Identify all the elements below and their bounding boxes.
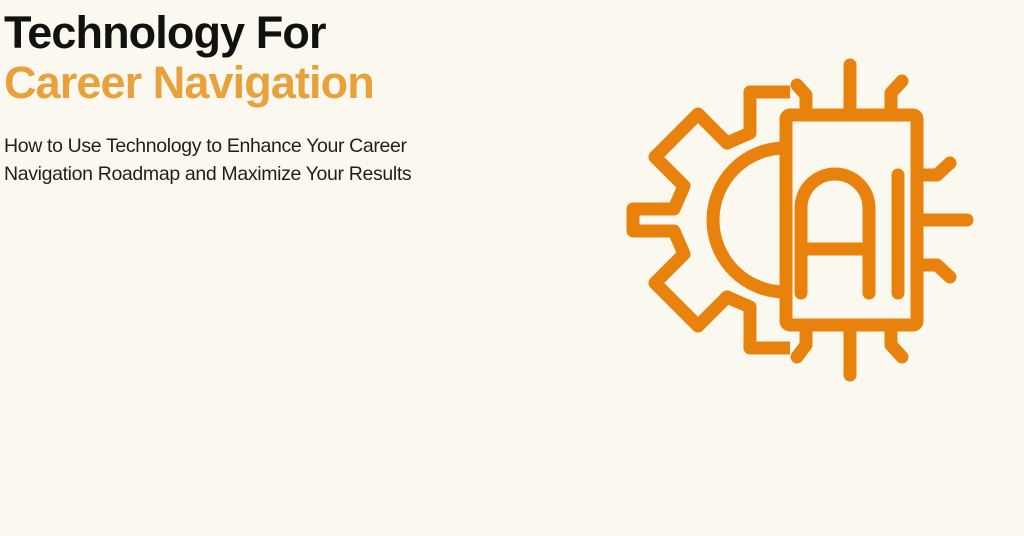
text-block: Technology For Career Navigation How to … (4, 8, 524, 188)
illustration-svg (595, 45, 995, 395)
page-title-line-1: Technology For (4, 8, 524, 58)
hero-banner: Technology For Career Navigation How to … (0, 0, 1024, 536)
page-title-line-2: Career Navigation (4, 58, 524, 108)
page-subtitle: How to Use Technology to Enhance Your Ca… (4, 108, 469, 188)
ai-chip-gear-illustration (595, 45, 995, 395)
